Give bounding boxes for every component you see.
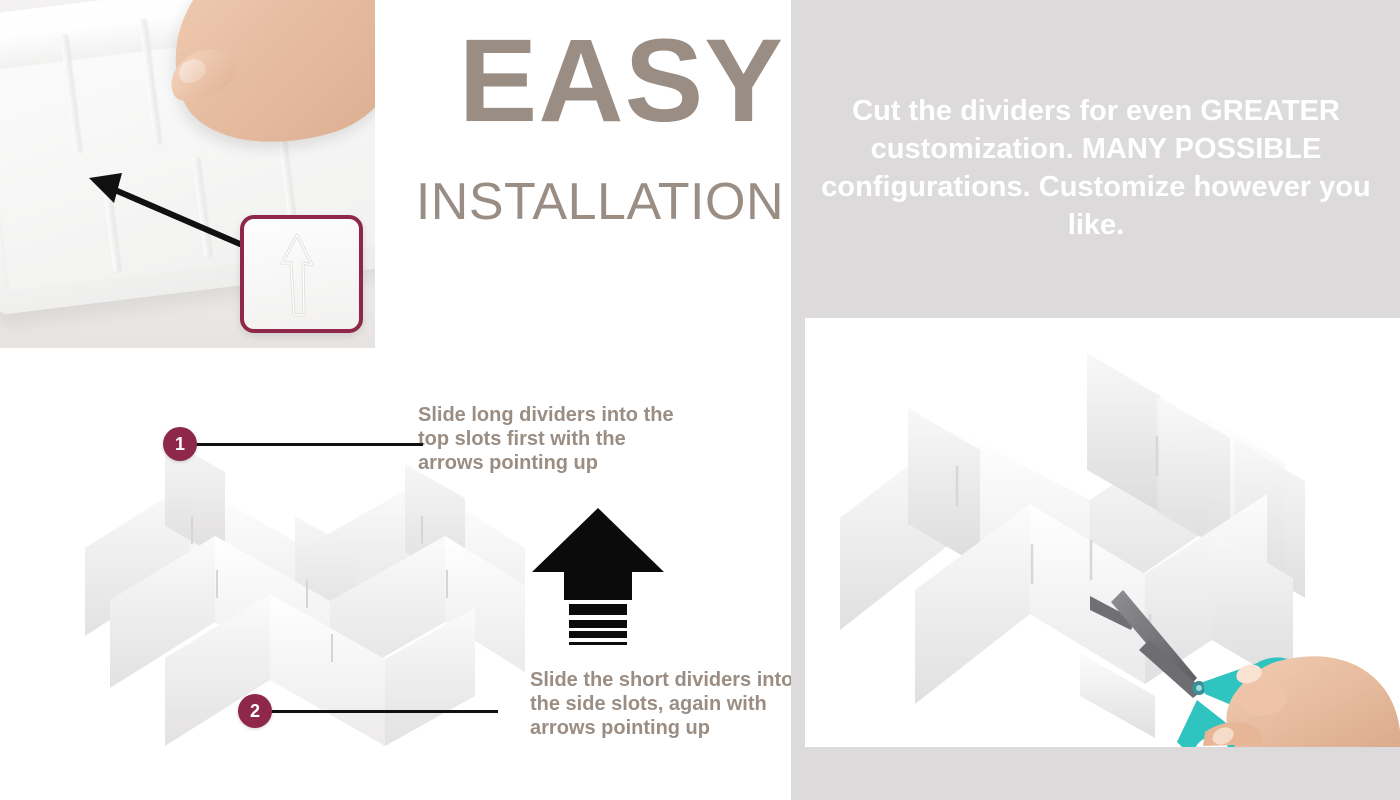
product-photo-cutting-dividers xyxy=(805,318,1400,747)
page-title-easy: EASY xyxy=(384,22,784,140)
step-2-badge: 2 xyxy=(238,694,272,728)
step-2-leader-line xyxy=(268,710,498,713)
embossed-arrow-callout xyxy=(240,215,363,333)
left-panel: EASY INSTALLATION xyxy=(0,0,791,800)
step-2-callout: 2 xyxy=(238,694,498,728)
right-panel: Cut the dividers for even GREATER custom… xyxy=(791,0,1400,800)
page-title-installation: INSTALLATION xyxy=(384,174,784,230)
step-1-text: Slide long dividers into the top slots f… xyxy=(418,403,678,475)
heading-block: EASY INSTALLATION xyxy=(384,22,784,230)
right-panel-copy: Cut the dividers for even GREATER custom… xyxy=(815,92,1377,244)
step-1-badge: 1 xyxy=(163,427,197,461)
infographic-stage: EASY INSTALLATION xyxy=(0,0,1400,800)
up-arrow-striped-icon xyxy=(528,500,668,645)
hero-photo-tray-with-hand xyxy=(0,0,375,348)
step-2-text: Slide the short dividers into the side s… xyxy=(530,668,800,740)
step-1-callout: 1 xyxy=(163,427,423,461)
step-1-leader-line xyxy=(193,443,423,446)
embossed-up-arrow-icon xyxy=(244,219,351,321)
